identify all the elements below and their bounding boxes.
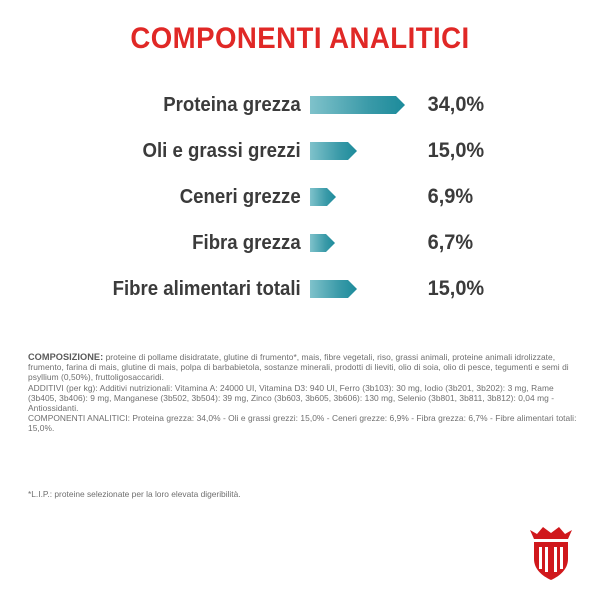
nutrient-value: 34,0% — [420, 93, 484, 117]
nutrient-row: Proteina grezza 34,0% — [0, 82, 600, 128]
nutrient-value: 15,0% — [420, 139, 484, 163]
royal-canin-crest-logo — [524, 526, 578, 584]
nutrient-bar — [310, 234, 335, 252]
bar-area — [310, 234, 420, 252]
nutrient-label: Oli e grassi grezzi — [22, 140, 310, 163]
bar-area — [310, 142, 420, 160]
nutrient-bar — [310, 280, 357, 298]
nutrient-value: 15,0% — [420, 277, 484, 301]
nutrient-row: Oli e grassi grezzi 15,0% — [0, 128, 600, 174]
nutrient-value: 6,7% — [420, 231, 473, 255]
bar-area — [310, 280, 420, 298]
nutrient-label: Ceneri grezze — [22, 186, 310, 209]
composizione-label: COMPOSIZIONE: — [28, 352, 103, 362]
nutrient-bar — [310, 142, 357, 160]
nutrient-label: Proteina grezza — [22, 94, 310, 117]
nutrient-bar — [310, 188, 336, 206]
nutrient-row: Fibre alimentari totali 15,0% — [0, 266, 600, 312]
nutrient-label: Fibre alimentari totali — [22, 278, 310, 301]
nutrient-row: Ceneri grezze 6,9% — [0, 174, 600, 220]
page-title: COMPONENTI ANALITICI — [24, 22, 576, 56]
title-section: COMPONENTI ANALITICI — [0, 0, 600, 56]
nutrient-label: Fibra grezza — [22, 232, 310, 255]
ingredients-fineprint: COMPOSIZIONE: proteine di pollame disidr… — [28, 352, 582, 434]
bar-area — [310, 96, 420, 114]
componenti-analitici-paragraph: COMPONENTI ANALITICI: Proteina grezza: 3… — [28, 413, 582, 433]
bar-area — [310, 188, 420, 206]
nutrient-row: Fibra grezza 6,7% — [0, 220, 600, 266]
lip-footnote: *L.I.P.: proteine selezionate per la lor… — [28, 489, 241, 499]
additivi-paragraph: ADDITIVI (per kg): Additivi nutrizionali… — [28, 383, 582, 414]
nutrient-value: 6,9% — [420, 185, 473, 209]
composizione-paragraph: COMPOSIZIONE: proteine di pollame disidr… — [28, 352, 582, 383]
nutrient-bar — [310, 96, 405, 114]
analytical-constituents-chart: Proteina grezza 34,0% Oli e grassi grezz… — [0, 82, 600, 312]
composizione-text: proteine di pollame disidratate, glutine… — [28, 352, 569, 382]
